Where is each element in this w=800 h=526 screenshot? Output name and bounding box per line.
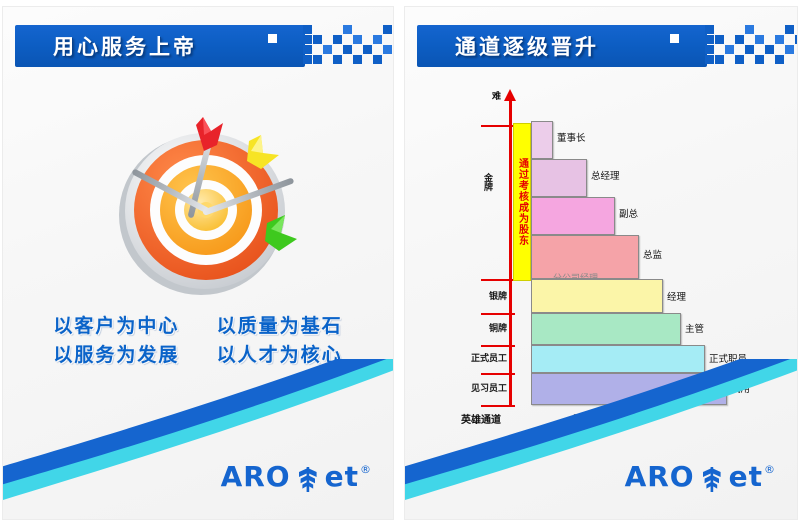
axis-label-hero-channel: 英雄通道 [461,411,501,426]
promotion-staircase-chart: 难 金牌 银牌 铜牌 正式员工 见习员工 通过考核成为股东 董事长 总经理 [467,87,787,417]
step-label-jingli: 经理 [667,289,686,303]
step-zongjingli [531,159,587,197]
step-zhuguan [531,313,681,345]
tick-tongpai [481,313,515,315]
banner-white-square [670,34,679,43]
left-banner: 用心服务上帝 [15,25,387,67]
target-with-arrows-graphic [99,111,314,301]
axis-label-promotion-channel: 晋升通道 [573,411,613,426]
slogan-1b: 以质量为基石 [217,312,343,341]
step-label-zhengshizhiyuan: 正式职员 [709,351,747,365]
right-header-title: 通道逐级晋升 [455,31,599,61]
tier-label-jinpai: 金牌 [481,173,494,191]
tier-label-yinpai: 银牌 [467,289,507,302]
pixel-dissolve-decoration [705,25,798,77]
step-shiyong [531,373,727,405]
shareholder-highlight-band: 通过考核成为股东 [513,123,531,281]
left-header-title: 用心服务上帝 [53,31,197,61]
slogan-line-2: 以服务为发展 以人才为核心 [3,341,393,370]
step-zhengshizhiyuan [531,345,705,373]
y-axis-arrow-icon [504,89,516,101]
wheat-leaf-mark-icon [295,463,321,497]
slogan-1a: 以客户为中心 [53,312,179,341]
pixel-dissolve-decoration [303,25,394,77]
wheat-leaf-mark-icon [699,463,725,497]
tick-bottom [481,405,515,407]
poster-root: 用心服务上帝 [0,0,800,526]
step-label-shiyong: 试用 [731,381,750,395]
registered-mark-icon: ® [360,464,371,475]
banner-white-square [268,34,277,43]
logo-text-et: et [729,463,763,491]
registered-mark-icon: ® [764,464,775,475]
logo-text-aro: ARO [221,463,291,491]
tick-jinpai-top [481,125,515,127]
slogan-2b: 以人才为核心 [217,341,343,370]
panel-right: 通道逐级晋升 [404,6,798,520]
step-fuzong [531,197,615,235]
left-slogans: 以客户为中心 以质量为基石 以服务为发展 以人才为核心 [3,312,393,369]
right-banner: 通道逐级晋升 [417,25,791,67]
tier-label-zhengshiyuangong: 正式员工 [455,351,507,364]
axis-top-label: 难 [489,91,502,100]
panel-left: 用心服务上帝 [2,6,394,520]
slogan-line-1: 以客户为中心 以质量为基石 [3,312,393,341]
logo-text-aro: ARO [625,463,695,491]
shareholder-band-text: 通过考核成为股东 [515,158,530,246]
step-jingli [531,279,663,313]
slogan-2a: 以服务为发展 [53,341,179,370]
tick-jianxi [481,373,515,375]
step-label-fuzong: 副总 [619,206,638,220]
tier-label-jianxiyuangong: 见习员工 [455,381,507,394]
step-label-zhuguan: 主管 [685,321,704,335]
step-label-dongshizhang: 董事长 [557,130,586,144]
step-label-zongjingli: 总经理 [591,168,620,182]
right-logo: ARO et ® [625,463,775,497]
chart-y-axis [509,99,512,407]
left-logo: ARO et ® [221,463,371,497]
step-dongshizhang [531,121,553,159]
logo-text-et: et [325,463,359,491]
tick-yinpai [481,279,515,281]
tier-label-tongpai: 铜牌 [467,321,507,334]
step-label-zongjian: 总监 [643,247,662,261]
tick-zhengshi [481,345,515,347]
